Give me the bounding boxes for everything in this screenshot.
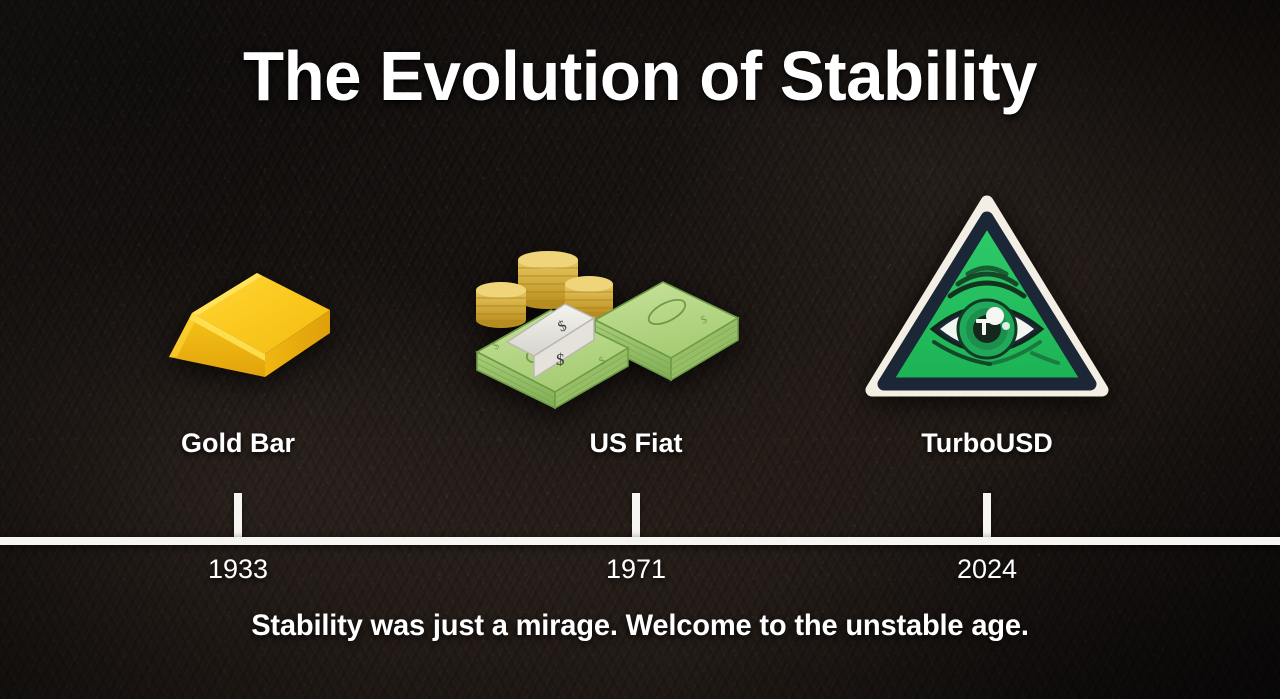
footer-caption: Stability was just a mirage. Welcome to …: [19, 609, 1261, 643]
banknote-stack-icon: $ $ $ $ $: [455, 240, 755, 410]
all-seeing-eye-pyramid-icon: [862, 192, 1112, 402]
milestone-label-gold-bar: Gold Bar: [181, 428, 295, 459]
poster-canvas: The Evolution of Stability: [0, 0, 1280, 699]
timeline-year-1971: 1971: [606, 554, 666, 585]
timeline-axis: [0, 537, 1280, 545]
timeline-tick-1971: [632, 493, 640, 539]
milestone-label-us-fiat: US Fiat: [589, 428, 682, 459]
timeline-tick-1933: [234, 493, 242, 539]
timeline-year-2024: 2024: [957, 554, 1017, 585]
page-title: The Evolution of Stability: [26, 36, 1255, 116]
milestone-label-turbousd: TurboUSD: [921, 428, 1052, 459]
svg-text:$: $: [556, 350, 565, 369]
timeline-tick-2024: [983, 493, 991, 539]
milestone-icon-row: $ $ $ $ $: [0, 190, 1280, 410]
gold-bar-icon: [153, 265, 333, 395]
timeline-year-1933: 1933: [208, 554, 268, 585]
